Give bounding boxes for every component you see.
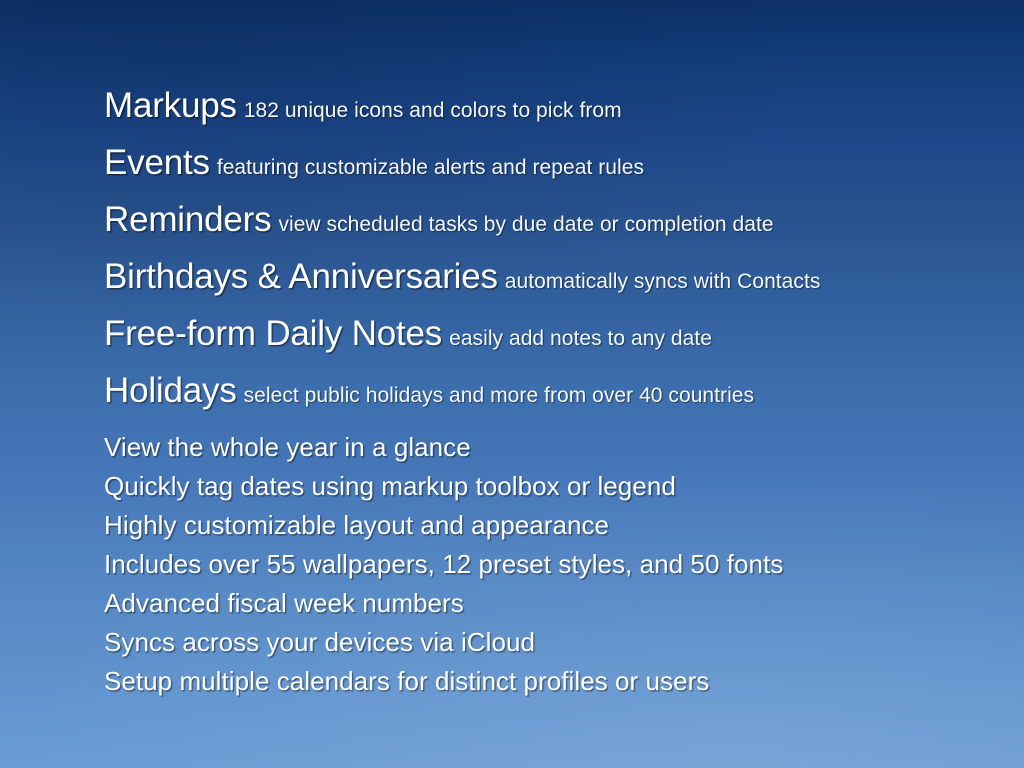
feature-description: easily add notes to any date [449, 327, 712, 350]
benefit-item: Includes over 55 wallpapers, 12 preset s… [104, 545, 1004, 584]
feature-row: Remindersview scheduled tasks by due dat… [104, 198, 1004, 248]
feature-list: Markups182 unique icons and colors to pi… [104, 84, 1004, 426]
feature-row: Birthdays & Anniversariesautomatically s… [104, 255, 1004, 305]
feature-title: Events [104, 143, 210, 182]
feature-title: Birthdays & Anniversaries [104, 257, 498, 296]
feature-row: Markups182 unique icons and colors to pi… [104, 84, 1004, 134]
benefit-item: Advanced fiscal week numbers [104, 584, 1004, 623]
feature-description: view scheduled tasks by due date or comp… [278, 213, 773, 236]
slide-content: Markups182 unique icons and colors to pi… [104, 0, 1024, 768]
benefit-item: Setup multiple calendars for distinct pr… [104, 662, 1004, 701]
benefit-item: Quickly tag dates using markup toolbox o… [104, 467, 1004, 506]
feature-row: Holidaysselect public holidays and more … [104, 369, 1004, 419]
feature-row: Eventsfeaturing customizable alerts and … [104, 141, 1004, 191]
feature-row: Free-form Daily Noteseasily add notes to… [104, 312, 1004, 362]
feature-description: select public holidays and more from ove… [244, 384, 754, 407]
feature-description: automatically syncs with Contacts [505, 270, 821, 293]
benefit-list: View the whole year in a glance Quickly … [104, 428, 1004, 701]
feature-description: 182 unique icons and colors to pick from [244, 99, 622, 122]
benefit-item: Highly customizable layout and appearanc… [104, 506, 1004, 545]
feature-title: Markups [104, 86, 237, 125]
benefit-item: View the whole year in a glance [104, 428, 1004, 467]
feature-description: featuring customizable alerts and repeat… [217, 156, 644, 179]
feature-title: Holidays [104, 371, 237, 410]
feature-slide: Markups182 unique icons and colors to pi… [0, 0, 1024, 768]
feature-title: Reminders [104, 200, 271, 239]
feature-title: Free-form Daily Notes [104, 314, 442, 353]
benefit-item: Syncs across your devices via iCloud [104, 623, 1004, 662]
